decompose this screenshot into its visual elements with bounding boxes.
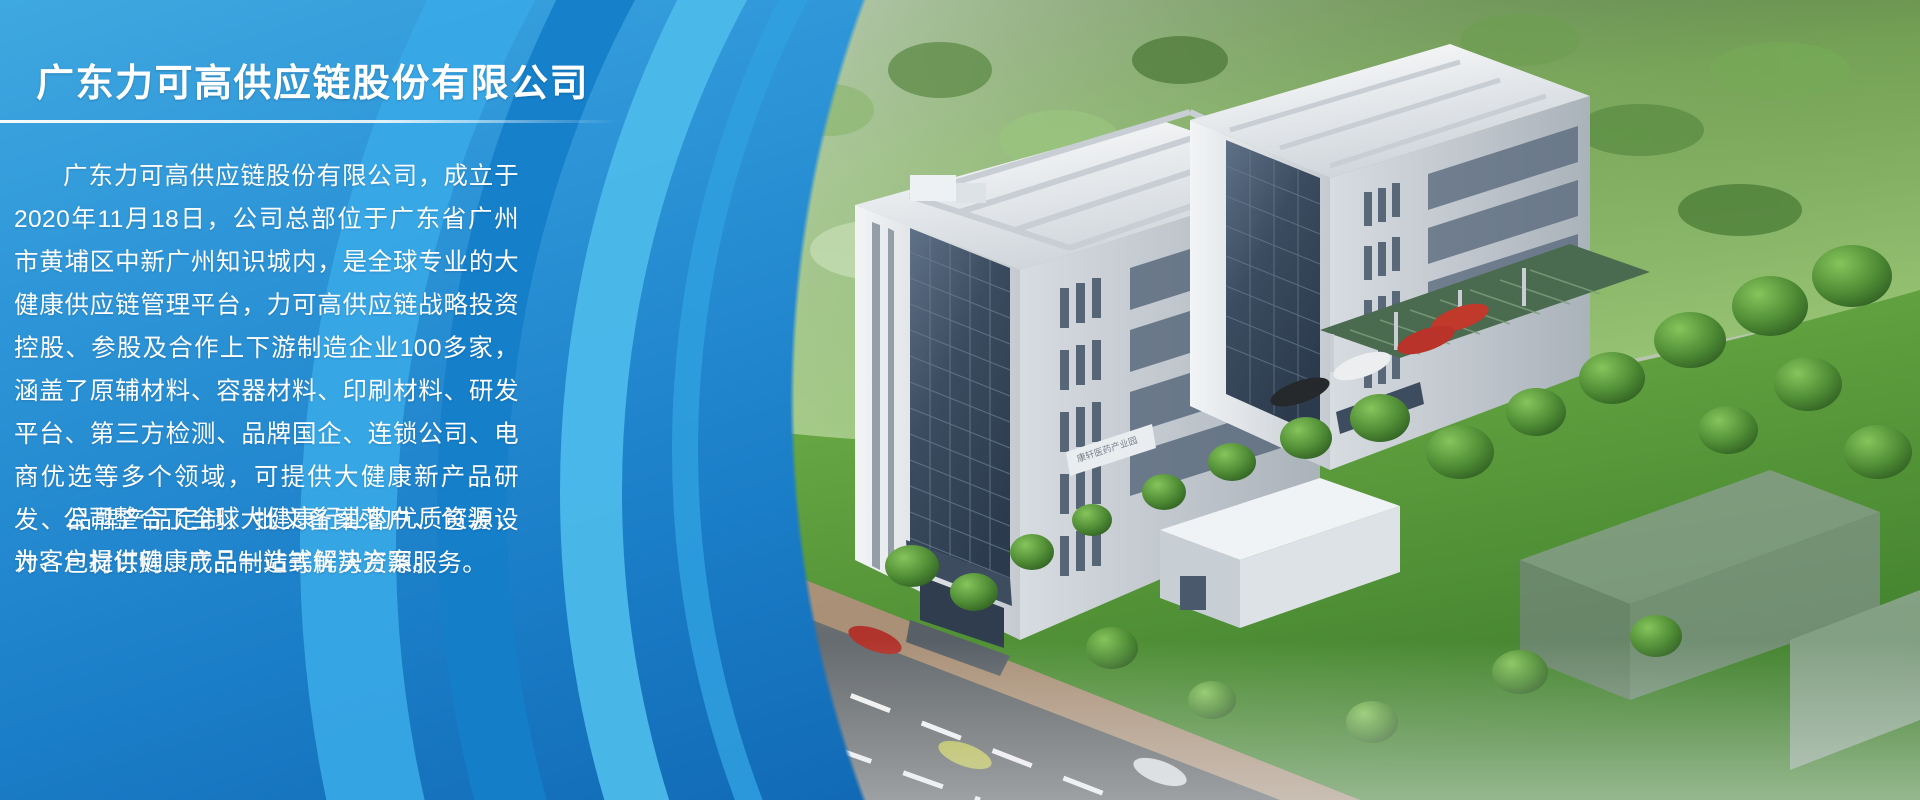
rendering-illustration: 康轩医药产业园 <box>760 0 1920 800</box>
text-column: 广东力可高供应链股份有限公司 广东力可高供应链股份有限公司，成立于2020年11… <box>0 0 640 800</box>
roof-equipment <box>910 175 956 201</box>
company-description-paragraph-2: 公司整合了全球大健康行业的优质资源，为客户提供健康产品一站式解决方案。 <box>14 498 519 584</box>
roof-equipment-2 <box>956 183 986 203</box>
bottom-mist <box>760 640 1920 800</box>
company-profile-banner: 广东力可高供应链股份有限公司 广东力可高供应链股份有限公司，成立于2020年11… <box>0 0 1920 800</box>
title-divider <box>0 120 620 123</box>
campus-aerial-rendering: 康轩医药产业园 <box>760 0 1920 800</box>
page-title: 广东力可高供应链股份有限公司 <box>36 52 589 107</box>
